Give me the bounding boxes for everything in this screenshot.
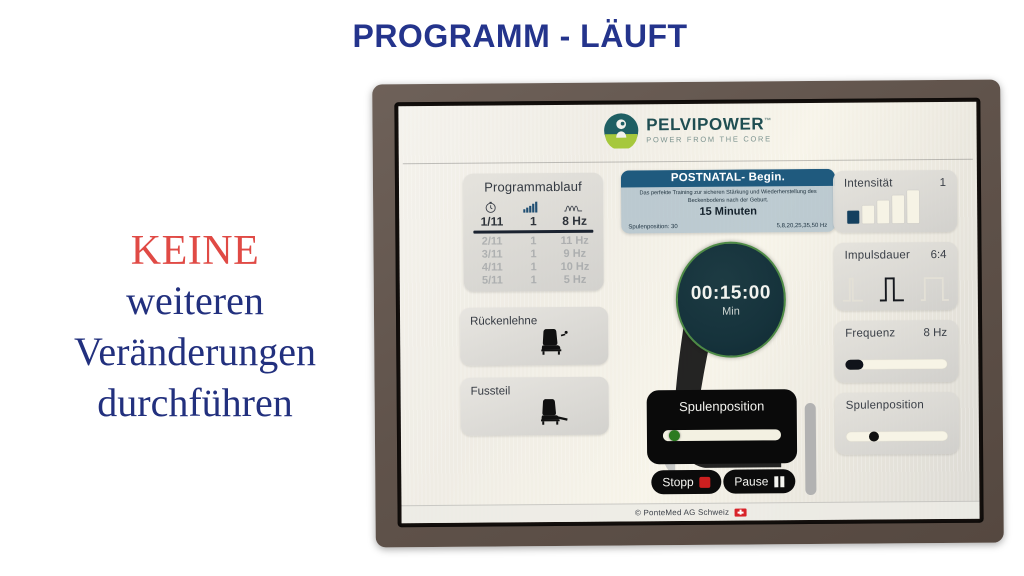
row-step: 3/11	[472, 248, 513, 260]
table-row: 2/11 1 11 Hz	[471, 235, 595, 248]
row-intensity: 1	[513, 235, 554, 247]
logo-tagline: POWER FROM THE CORE	[646, 136, 772, 144]
intensity-label: Intensität	[844, 177, 893, 189]
active-intensity: 1	[513, 214, 554, 228]
pulse-medium-icon[interactable]	[879, 274, 905, 302]
intensity-step-4[interactable]	[892, 195, 904, 223]
frequency-wave-icon	[564, 201, 582, 213]
swiss-flag-icon	[734, 508, 746, 516]
program-coil-position: Spulenposition: 30	[628, 224, 677, 230]
row-intensity: 1	[513, 274, 554, 286]
backrest-button[interactable]: Rückenlehne	[460, 307, 608, 366]
intensity-bars-icon	[523, 200, 538, 213]
row-step: 5/11	[472, 274, 513, 286]
footrest-label: Fussteil	[471, 385, 511, 397]
side-scroll-bar[interactable]	[805, 403, 817, 495]
row-frequency: 11 Hz	[554, 235, 595, 247]
table-row: 3/11 1 9 Hz	[471, 248, 595, 261]
stop-label: Stopp	[662, 475, 693, 489]
pulse-duration-panel[interactable]: Impulsdauer 6:4	[833, 242, 958, 311]
program-duration: 15 Minuten	[621, 205, 835, 219]
coil-position-slider-track[interactable]	[846, 431, 948, 442]
pause-label: Pause	[734, 474, 768, 488]
active-row-underline	[473, 230, 593, 234]
program-info-banner[interactable]: POSTNATAL- Begin. Das perfekte Training …	[621, 169, 835, 234]
logo-wordmark: PELVIPOWER	[646, 115, 764, 135]
intensity-value: 1	[940, 177, 947, 189]
page-title: PROGRAMM - LÄUFT	[250, 18, 790, 55]
device-monitor: PELVIPOWER™ POWER FROM THE CORE Programm…	[372, 80, 1004, 548]
active-step: 1/11	[471, 214, 512, 228]
frequency-value: 8 Hz	[923, 327, 947, 339]
timer-unit: Min	[722, 305, 740, 317]
screen-header: PELVIPOWER™ POWER FROM THE CORE	[398, 102, 976, 165]
stop-button[interactable]: Stopp	[651, 470, 722, 495]
row-frequency: 10 Hz	[554, 261, 595, 273]
pause-button[interactable]: Pause	[723, 469, 795, 494]
active-frequency: 8 Hz	[554, 214, 595, 228]
intensity-step-3[interactable]	[877, 200, 889, 223]
table-row: 5/11 1 5 Hz	[472, 274, 596, 287]
monitor-bezel: PELVIPOWER™ POWER FROM THE CORE Programm…	[394, 98, 983, 528]
pulse-long-icon[interactable]	[920, 274, 950, 302]
row-step: 4/11	[472, 261, 513, 273]
coil-position-overlay-knob[interactable]	[669, 430, 680, 441]
intensity-panel[interactable]: Intensität 1	[833, 170, 957, 233]
coil-position-panel[interactable]: Spulenposition	[835, 392, 959, 455]
stop-square-icon	[700, 476, 711, 487]
program-sequence-heading: Programmablauf	[463, 179, 603, 195]
callout-line-2: Veränderungen	[20, 326, 370, 377]
program-sequence-panel[interactable]: Programmablauf 1	[463, 173, 604, 292]
row-intensity: 1	[513, 248, 554, 260]
backrest-label: Rückenlehne	[470, 315, 537, 328]
row-frequency: 9 Hz	[554, 248, 595, 260]
coil-position-overlay-panel[interactable]: Spulenposition	[647, 389, 798, 464]
pelvipower-logo-icon	[603, 112, 639, 148]
clock-icon	[484, 200, 497, 213]
countdown-timer[interactable]: 00:15:00 Min	[675, 241, 786, 358]
callout-text: KEINE weiteren Veränderungen durchführen	[20, 228, 370, 429]
frequency-slider-knob[interactable]	[845, 360, 863, 370]
pulse-duration-value: 6:4	[931, 249, 947, 261]
screen-footer: © PonteMed AG Schweiz	[401, 501, 979, 524]
callout-line-3: durchführen	[20, 377, 370, 428]
row-frequency: 5 Hz	[555, 274, 596, 286]
copyright-text: © PonteMed AG Schweiz	[635, 508, 729, 518]
intensity-step-2[interactable]	[862, 206, 874, 224]
timer-value: 00:15:00	[691, 282, 771, 305]
program-frequencies: 5,8,20,25,35,50 Hz	[777, 223, 828, 229]
program-active-row: 1/11 1 8 Hz	[471, 214, 595, 229]
pulse-short-icon[interactable]	[841, 275, 863, 303]
touchscreen[interactable]: PELVIPOWER™ POWER FROM THE CORE Programm…	[398, 102, 979, 524]
brand-logo: PELVIPOWER™ POWER FROM THE CORE	[603, 111, 772, 148]
intensity-step-5[interactable]	[907, 190, 919, 223]
chair-backrest-icon	[536, 326, 570, 361]
row-intensity: 1	[513, 261, 554, 273]
coil-position-overlay-slider[interactable]	[663, 429, 781, 441]
footrest-button[interactable]: Fussteil	[460, 377, 608, 436]
frequency-label: Frequenz	[845, 327, 895, 339]
callout-emphasis: KEINE	[20, 228, 370, 275]
pause-bars-icon	[774, 476, 784, 487]
intensity-step-1[interactable]	[847, 211, 859, 224]
callout-line-1: weiteren	[20, 275, 370, 326]
coil-position-slider-knob[interactable]	[869, 432, 879, 442]
coil-position-overlay-label: Spulenposition	[647, 398, 797, 414]
row-step: 2/11	[472, 235, 513, 247]
program-description: Das perfekte Training zur sicheren Stärk…	[627, 188, 829, 206]
pulse-duration-label: Impulsdauer	[845, 249, 911, 262]
program-sequence-column-icons	[471, 198, 595, 214]
coil-position-label: Spulenposition	[846, 399, 924, 412]
table-row: 4/11 1 10 Hz	[472, 261, 596, 274]
pulse-duration-options[interactable]	[834, 274, 958, 303]
intensity-step-bars[interactable]	[847, 190, 919, 224]
logo-trademark: ™	[764, 118, 772, 125]
chair-footrest-icon	[537, 396, 571, 431]
frequency-panel[interactable]: Frequenz 8 Hz	[834, 320, 958, 383]
program-name: POSTNATAL- Begin.	[621, 169, 835, 188]
